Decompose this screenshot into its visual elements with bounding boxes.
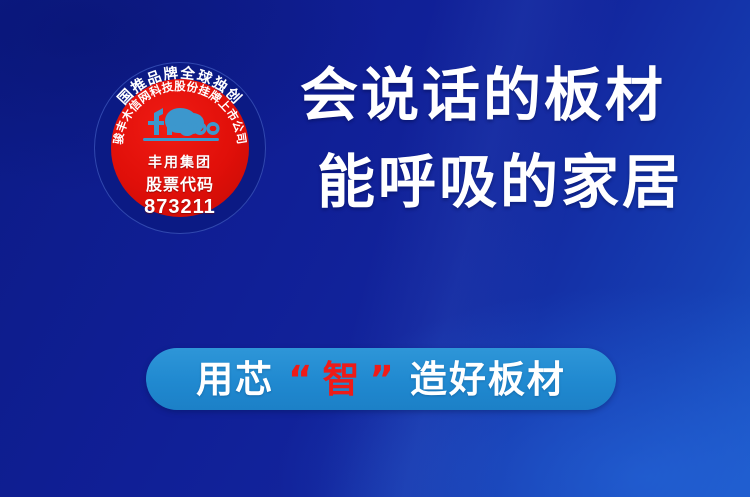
- slogan-segment-post: 造好板材: [410, 361, 566, 398]
- seal-stock-code-label: 股票代码: [111, 178, 249, 194]
- slogan-quote-close: ”: [370, 361, 396, 398]
- slogan-quote-open: “: [288, 361, 314, 398]
- slogan-pill-text: 用芯 “ 智 ” 造好板材: [196, 361, 566, 398]
- headline-line-1: 会说话的板材: [300, 66, 700, 124]
- seal-brand-name: 丰用集团: [111, 155, 249, 169]
- headline-line-2: 能呼吸的家居: [317, 153, 700, 211]
- certification-seal: 国推品牌全球独创 抗菌技术国高上市企业 骏丰木信网科技股份挂牌上市公司: [94, 47, 266, 249]
- slogan-pill-button[interactable]: 用芯 “ 智 ” 造好板材: [146, 348, 616, 410]
- tree-logo-art-icon: [140, 104, 222, 154]
- seal-stock-code-number: 873211: [111, 197, 249, 217]
- slogan-segment-pre: 用芯: [196, 361, 274, 398]
- slogan-highlight-word: 智: [323, 361, 362, 398]
- headline-block: 会说话的板材 能呼吸的家居: [300, 66, 700, 211]
- promo-banner: 国推品牌全球独创 抗菌技术国高上市企业 骏丰木信网科技股份挂牌上市公司: [0, 0, 750, 497]
